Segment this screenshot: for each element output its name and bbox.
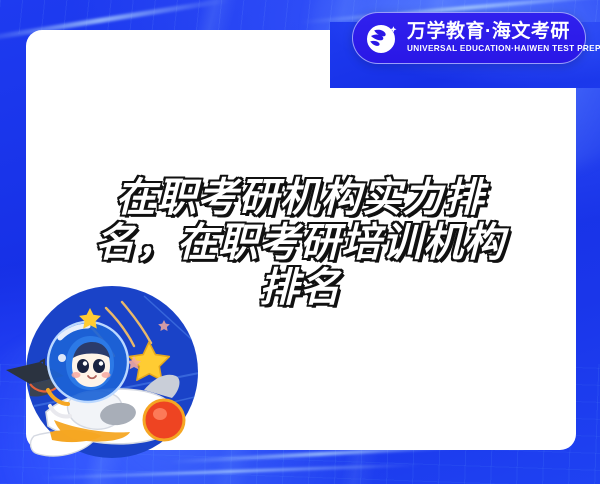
swirl-circle-icon xyxy=(365,21,399,55)
brand-name-en: UNIVERSAL EDUCATION·HAIWEN TEST PREP xyxy=(407,45,600,53)
mascot-illustration xyxy=(0,286,208,484)
banner-canvas: 万学教育·海文考研 UNIVERSAL EDUCATION·HAIWEN TES… xyxy=(0,0,600,484)
brand-logo-badge[interactable]: 万学教育·海文考研 UNIVERSAL EDUCATION·HAIWEN TES… xyxy=(352,12,586,64)
brand-logo-text-group: 万学教育·海文考研 UNIVERSAL EDUCATION·HAIWEN TES… xyxy=(407,22,600,53)
brand-name-cn: 万学教育·海文考研 xyxy=(407,22,600,41)
